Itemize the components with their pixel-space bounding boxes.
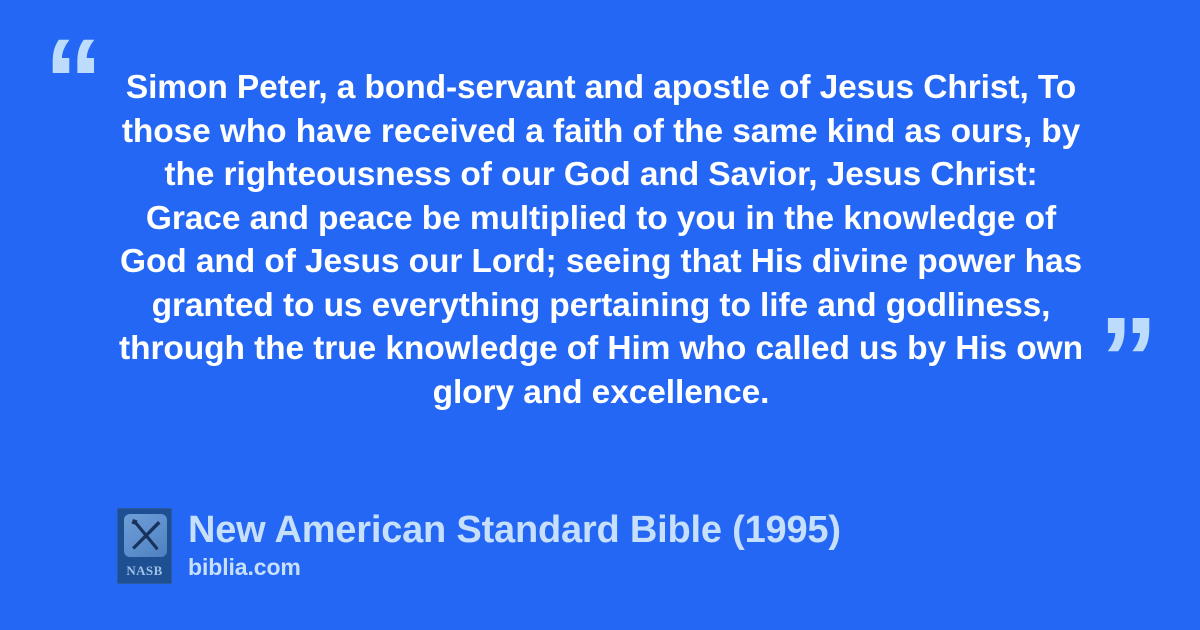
- source-title: New American Standard Bible (1995): [188, 508, 841, 552]
- attribution-text: New American Standard Bible (1995) bibli…: [188, 508, 841, 581]
- logo-label: NASB: [118, 564, 171, 577]
- quote-text: Simon Peter, a bond-servant and apostle …: [118, 66, 1084, 414]
- nasb-sword-cross-icon: [124, 514, 167, 557]
- nasb-logo: NASB: [117, 508, 172, 584]
- source-url[interactable]: biblia.com: [188, 554, 841, 581]
- opening-quote-mark-icon: “: [44, 22, 103, 140]
- closing-quote-mark-icon: ”: [1099, 300, 1158, 418]
- attribution: NASB New American Standard Bible (1995) …: [117, 508, 841, 584]
- quote-block: “ Simon Peter, a bond-servant and apostl…: [0, 0, 1200, 470]
- quote-card: “ Simon Peter, a bond-servant and apostl…: [0, 0, 1200, 630]
